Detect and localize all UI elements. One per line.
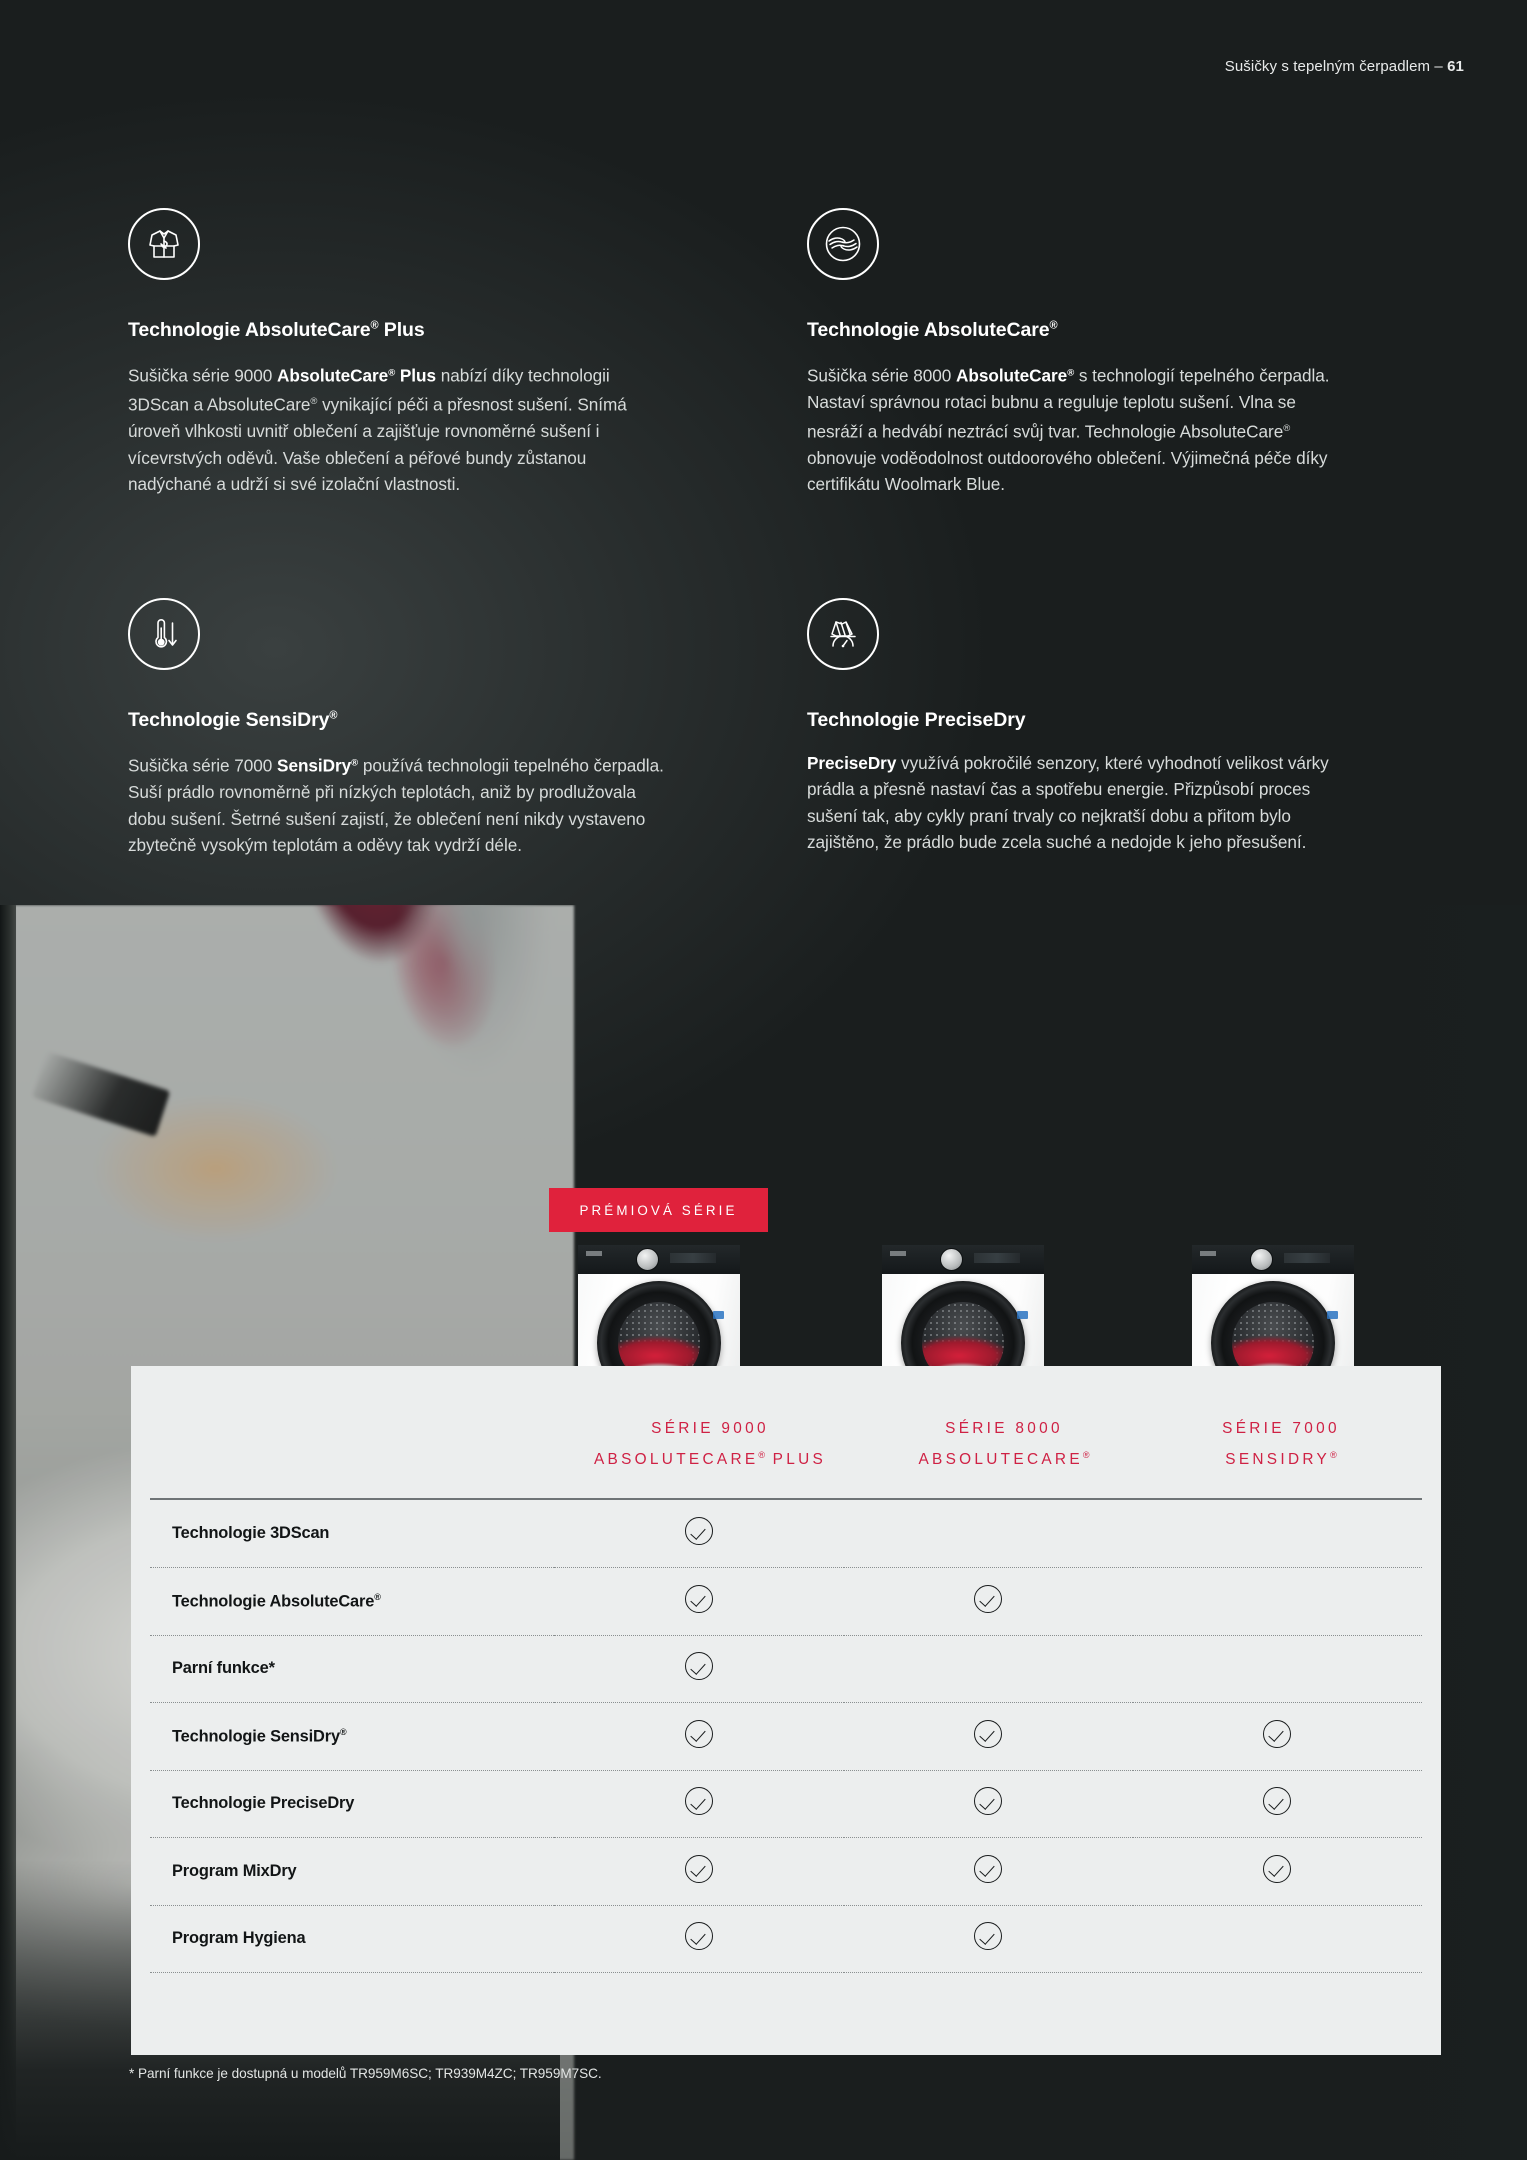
feature-value-cell-col-1 (554, 1635, 843, 1703)
feature-value-cell-col-1 (554, 1905, 843, 1973)
comparison-table-panel: SÉRIE 9000 ABSOLUTECARE® PLUS SÉRIE 8000… (131, 1366, 1441, 2055)
dryer-display (974, 1253, 1020, 1263)
feature-value-cell-col-3 (1133, 1568, 1422, 1636)
check-icon (685, 1922, 713, 1950)
table-row: Technologie SensiDry® (150, 1703, 1422, 1771)
column-header-series-8000: SÉRIE 8000 ABSOLUTECARE® (834, 1415, 1174, 1473)
dryer-program-knob (1250, 1248, 1273, 1271)
feature-value-cell-col-2 (844, 1703, 1133, 1771)
check-icon (1263, 1720, 1291, 1748)
page-header: Sušičky s tepelným čerpadlem – 61 (1225, 58, 1464, 75)
dryer-control-panel (882, 1245, 1044, 1274)
feature-name-cell: Program Hygiena (150, 1905, 554, 1973)
feature-value-cell-col-2 (844, 1568, 1133, 1636)
dryer-brand-logo (1200, 1251, 1216, 1256)
column-header-line2: ABSOLUTECARE (918, 1451, 1082, 1468)
feature-value-cell-col-3 (1133, 1905, 1422, 1973)
dryer-control-panel (1192, 1245, 1354, 1274)
feature-title-text: Technologie AbsoluteCare (128, 319, 370, 341)
feature-name-cell: Program MixDry (150, 1838, 554, 1906)
column-header-line2: SENSIDRY (1225, 1451, 1330, 1468)
feature-title-text: Technologie AbsoluteCare (807, 319, 1049, 341)
feature-name-cell: Technologie PreciseDry (150, 1770, 554, 1838)
check-icon (974, 1787, 1002, 1815)
check-icon (1263, 1787, 1291, 1815)
feature-value-cell-col-3 (1133, 1838, 1422, 1906)
feature-title-sup: ® (329, 710, 337, 722)
feature-body: Sušička série 8000 AbsoluteCare® s techn… (807, 360, 1352, 498)
feature-body: PreciseDry využívá pokročilé senzory, kt… (807, 750, 1352, 856)
feature-name-sup: ® (374, 1592, 380, 1602)
feature-value-cell-col-2 (844, 1905, 1133, 1973)
feature-value-cell-col-1 (554, 1838, 843, 1906)
feature-value-cell-col-3 (1133, 1703, 1422, 1771)
dryer-brand-logo (586, 1251, 602, 1256)
feature-value-cell-col-1 (554, 1703, 843, 1771)
check-icon (974, 1855, 1002, 1883)
page-number: 61 (1447, 58, 1464, 75)
dryer-status-led (1327, 1311, 1338, 1319)
column-header-suffix: PLUS (765, 1451, 826, 1468)
feature-title: Technologie AbsoluteCare® (807, 319, 1377, 342)
laundry-load-sensor-icon (807, 598, 879, 670)
feature-value-cell-col-2 (844, 1500, 1133, 1568)
feature-precisedry: Technologie PreciseDry PreciseDry využív… (807, 598, 1377, 856)
feature-title-suffix: Plus (378, 319, 424, 341)
feature-sensidry: Technologie SensiDry® Sušička série 7000… (128, 598, 698, 858)
check-icon (685, 1720, 713, 1748)
feature-value-cell-col-2 (844, 1635, 1133, 1703)
table-row: Program MixDry (150, 1838, 1422, 1906)
feature-value-cell-col-3 (1133, 1770, 1422, 1838)
dryer-program-knob (636, 1248, 659, 1271)
page-header-text: Sušičky s tepelným čerpadlem – (1225, 58, 1447, 75)
table-row: Technologie AbsoluteCare® (150, 1568, 1422, 1636)
feature-name-cell: Parní funkce* (150, 1635, 554, 1703)
dryer-control-panel (578, 1245, 740, 1274)
check-icon (974, 1922, 1002, 1950)
table-row: Technologie PreciseDry (150, 1770, 1422, 1838)
page-root: Sušičky s tepelným čerpadlem – 61 Techno… (0, 0, 1527, 2160)
feature-title-text: Technologie PreciseDry (807, 709, 1026, 731)
check-icon (974, 1585, 1002, 1613)
feature-value-cell-col-1 (554, 1500, 843, 1568)
column-header-line1: SÉRIE 7000 (1222, 1420, 1340, 1437)
comparison-table: Technologie 3DScanTechnologie AbsoluteCa… (150, 1500, 1422, 1973)
dryer-display (670, 1253, 716, 1263)
check-icon (685, 1855, 713, 1883)
column-header-line1: SÉRIE 9000 (651, 1420, 769, 1437)
feature-body: Sušička série 7000 SensiDry® používá tec… (128, 750, 673, 858)
feature-value-cell-col-1 (554, 1568, 843, 1636)
dryer-brand-logo (890, 1251, 906, 1256)
feature-value-cell-col-3 (1133, 1500, 1422, 1568)
feature-name-cell: Technologie SensiDry® (150, 1703, 554, 1771)
feature-absolutecare: Technologie AbsoluteCare® Sušička série … (807, 208, 1377, 498)
table-row: Parní funkce* (150, 1635, 1422, 1703)
column-header-line2: ABSOLUTECARE (594, 1451, 758, 1468)
feature-name-sup: ® (340, 1727, 346, 1737)
feature-body: Sušička série 9000 AbsoluteCare® Plus na… (128, 360, 673, 498)
feature-absolutecare-plus: Technologie AbsoluteCare® Plus Sušička s… (128, 208, 698, 498)
check-icon (1263, 1855, 1291, 1883)
dryer-display (1284, 1253, 1330, 1263)
photo-lamp (32, 1051, 170, 1137)
caring-hands-icon (807, 208, 879, 280)
footnote: * Parní funkce je dostupná u modelů TR95… (129, 2066, 602, 2081)
check-icon (685, 1652, 713, 1680)
feature-title: Technologie PreciseDry (807, 709, 1377, 732)
column-header-sup: ® (1330, 1450, 1337, 1460)
dryer-status-led (1017, 1311, 1028, 1319)
check-icon (685, 1585, 713, 1613)
table-row: Technologie 3DScan (150, 1500, 1422, 1568)
feature-name-cell: Technologie 3DScan (150, 1500, 554, 1568)
check-icon (685, 1787, 713, 1815)
feature-title: Technologie SensiDry® (128, 709, 698, 732)
feature-value-cell-col-1 (554, 1770, 843, 1838)
premium-series-badge: PRÉMIOVÁ SÉRIE (549, 1188, 768, 1232)
check-icon (685, 1517, 713, 1545)
feature-value-cell-col-3 (1133, 1635, 1422, 1703)
thermometer-down-icon (128, 598, 200, 670)
dryer-status-led (713, 1311, 724, 1319)
table-row: Program Hygiena (150, 1905, 1422, 1973)
column-header-line1: SÉRIE 8000 (945, 1420, 1063, 1437)
feature-title: Technologie AbsoluteCare® Plus (128, 319, 698, 342)
column-header-series-7000: SÉRIE 7000 SENSIDRY® (1131, 1415, 1431, 1473)
check-icon (974, 1720, 1002, 1748)
column-header-sup: ® (1083, 1450, 1090, 1460)
dryer-program-knob (940, 1248, 963, 1271)
down-jacket-icon (128, 208, 200, 280)
feature-value-cell-col-2 (844, 1770, 1133, 1838)
feature-name-cell: Technologie AbsoluteCare® (150, 1568, 554, 1636)
feature-value-cell-col-2 (844, 1838, 1133, 1906)
feature-title-text: Technologie SensiDry (128, 709, 329, 731)
feature-title-sup: ® (1049, 320, 1057, 332)
photo-person (354, 905, 584, 1125)
